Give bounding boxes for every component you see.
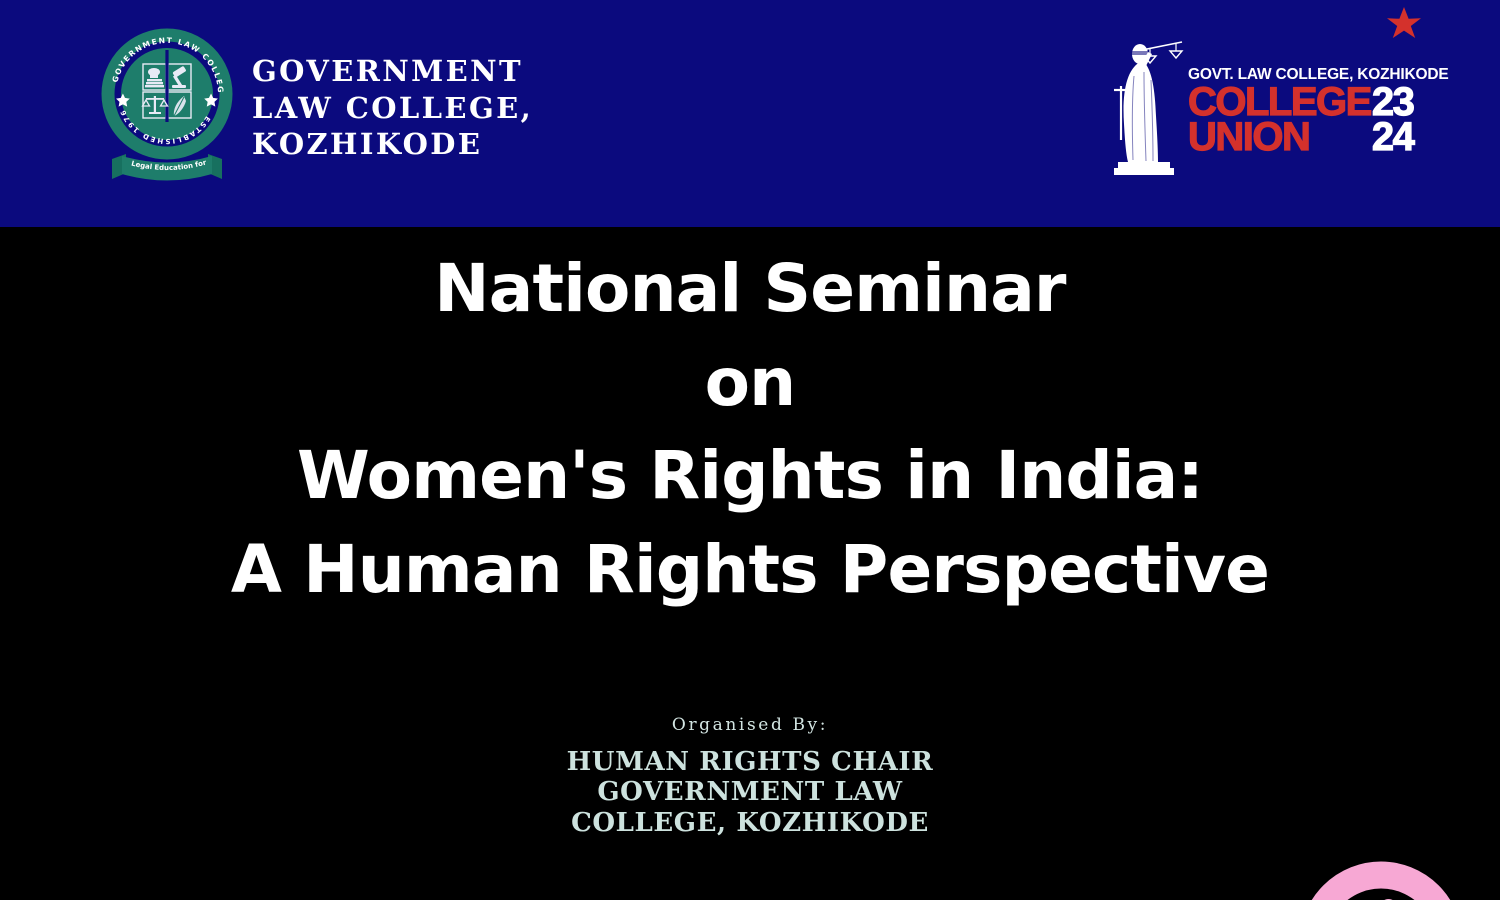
union-text-block: GOVT. LAW COLLEGE, KOZHIKODE COLLEGE UNI…: [1188, 66, 1424, 155]
union-year-24: 24: [1372, 120, 1414, 155]
union-word-union: UNION: [1188, 120, 1371, 155]
union-years: 23 24: [1372, 85, 1414, 155]
college-wordmark: GOVERNMENT LAW COLLEGE, KOZHIKODE: [252, 53, 533, 163]
college-emblem-icon: GOVERNMENT LAW COLLEGE, KOZHIKODE ESTABL…: [100, 28, 234, 188]
title-line-3: Women's Rights in India:: [0, 429, 1500, 523]
left-logo-lockup: GOVERNMENT LAW COLLEGE, KOZHIKODE ESTABL…: [100, 28, 533, 188]
union-main-row: COLLEGE UNION 23 24: [1188, 85, 1424, 155]
title-line-2: on: [0, 336, 1500, 430]
title-line-1: National Seminar: [0, 242, 1500, 336]
organised-by-label: Organised By:: [0, 715, 1500, 735]
organiser-name: HUMAN RIGHTS CHAIR GOVERNMENT LAW COLLEG…: [0, 747, 1500, 838]
seminar-title-block: National Seminar on Women's Rights in In…: [0, 242, 1500, 617]
main-stage: National Seminar on Women's Rights in In…: [0, 227, 1500, 900]
college-union-logo: GOVT. LAW COLLEGE, KOZHIKODE COLLEGE UNI…: [1104, 32, 1424, 182]
lady-justice-icon: [1104, 32, 1186, 182]
union-words: COLLEGE UNION: [1188, 85, 1371, 155]
seminar-poster: GOVERNMENT LAW COLLEGE, KOZHIKODE ESTABL…: [0, 0, 1500, 900]
header-band: GOVERNMENT LAW COLLEGE, KOZHIKODE ESTABL…: [0, 0, 1500, 227]
feminist-fist-venus-icon: [1283, 859, 1479, 900]
title-line-4: A Human Rights Perspective: [0, 523, 1500, 617]
star-icon: [1386, 6, 1422, 42]
organiser-block: Organised By: HUMAN RIGHTS CHAIR GOVERNM…: [0, 715, 1500, 838]
